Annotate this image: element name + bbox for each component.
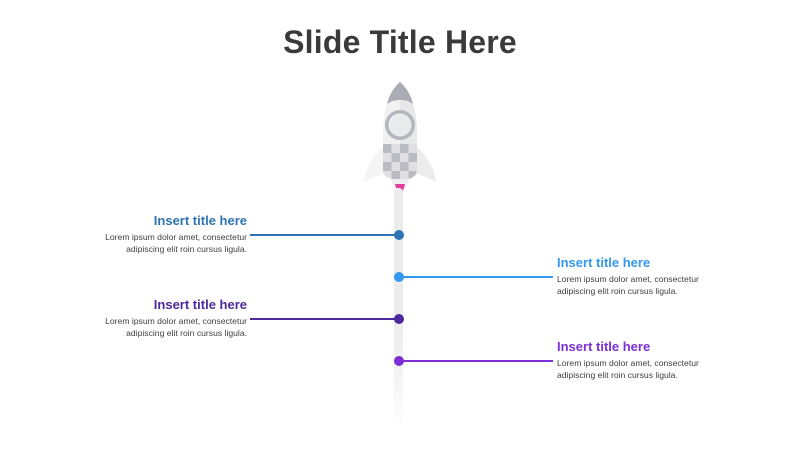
connector-line-4: [399, 360, 554, 361]
item-title: Insert title here: [557, 255, 735, 271]
item-title: Insert title here: [69, 297, 247, 313]
node-dot-4[interactable]: [394, 356, 404, 366]
rocket-icon: [355, 78, 445, 198]
item-body: Lorem ipsum dolor amet, consectetur adip…: [557, 357, 735, 381]
item-title: Insert title here: [557, 339, 735, 355]
callout-item-1: Insert title here Lorem ipsum dolor amet…: [69, 213, 247, 256]
connector-line-2: [399, 276, 554, 277]
callout-item-4: Insert title here Lorem ipsum dolor amet…: [557, 339, 735, 382]
node-dot-1[interactable]: [394, 230, 404, 240]
callout-item-2: Insert title here Lorem ipsum dolor amet…: [557, 255, 735, 298]
connector-line-1: [250, 234, 399, 235]
item-body: Lorem ipsum dolor amet, consectetur adip…: [557, 273, 735, 297]
item-body: Lorem ipsum dolor amet, consectetur adip…: [69, 231, 247, 255]
item-body: Lorem ipsum dolor amet, consectetur adip…: [69, 315, 247, 339]
item-title: Insert title here: [69, 213, 247, 229]
connector-line-3: [250, 318, 399, 319]
rocket-trail: [394, 188, 403, 428]
callout-item-3: Insert title here Lorem ipsum dolor amet…: [69, 297, 247, 340]
page-title: Slide Title Here: [0, 24, 800, 61]
node-dot-2[interactable]: [394, 272, 404, 282]
slide-canvas: Slide Title Here: [0, 0, 800, 450]
node-dot-3[interactable]: [394, 314, 404, 324]
